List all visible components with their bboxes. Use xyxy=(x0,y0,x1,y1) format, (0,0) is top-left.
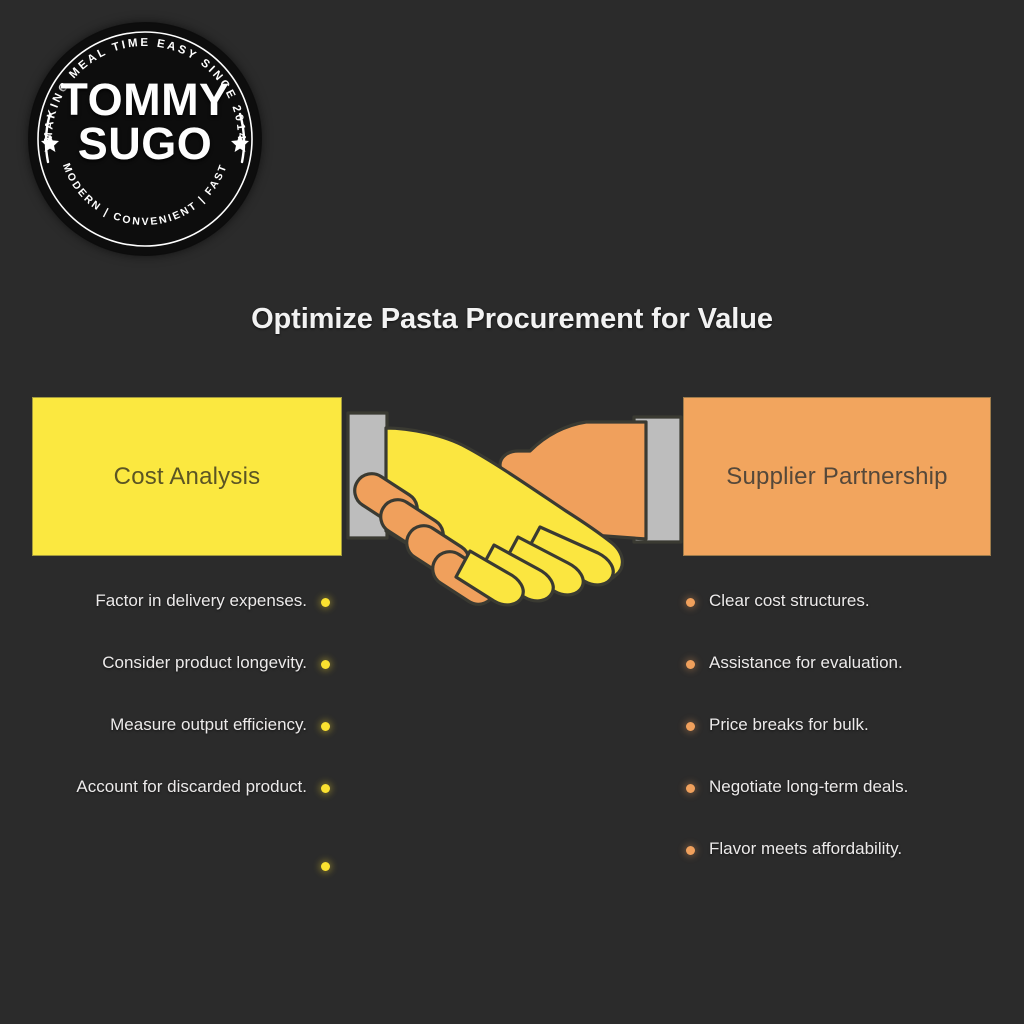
list-item[interactable]: Flavor meets affordability. xyxy=(686,838,996,861)
list-item[interactable]: Measure output efficiency. xyxy=(30,714,330,737)
list-item[interactable]: Account for discarded product. xyxy=(30,776,330,799)
list-item[interactable]: Negotiate long-term deals. xyxy=(686,776,996,799)
bullet-dot-icon xyxy=(321,722,330,731)
logo-wordmark-line2: SUGO xyxy=(28,122,262,166)
list-item-label: Flavor meets affordability. xyxy=(709,838,996,861)
bullet-dot-icon xyxy=(686,846,695,855)
list-item-label: Factor in delivery expenses. xyxy=(30,590,307,613)
list-item[interactable]: Clear cost structures. xyxy=(686,590,996,613)
bullet-dot-icon xyxy=(321,598,330,607)
brand-logo: MAKING MEAL TIME EASY SINCE 2014 MODERN … xyxy=(28,22,262,256)
list-item[interactable] xyxy=(30,854,330,871)
list-item-label: Measure output efficiency. xyxy=(30,714,307,737)
bullet-dot-icon xyxy=(321,862,330,871)
pillar-label-right: Supplier Partnership xyxy=(726,463,947,491)
bullet-dot-icon xyxy=(321,784,330,793)
pillar-label-left: Cost Analysis xyxy=(114,463,261,491)
list-item[interactable]: Price breaks for bulk. xyxy=(686,714,996,737)
list-item-label: Account for discarded product. xyxy=(30,776,307,799)
list-item[interactable]: Assistance for evaluation. xyxy=(686,652,996,675)
bullet-dot-icon xyxy=(686,784,695,793)
bullet-dot-icon xyxy=(686,660,695,669)
list-item[interactable]: Factor in delivery expenses. xyxy=(30,590,330,613)
list-item-label: Clear cost structures. xyxy=(709,590,996,613)
infographic-canvas: MAKING MEAL TIME EASY SINCE 2014 MODERN … xyxy=(0,0,1024,1024)
list-item-label: Consider product longevity. xyxy=(30,652,307,675)
page-title: Optimize Pasta Procurement for Value xyxy=(0,303,1024,336)
logo-wordmark: TOMMY SUGO xyxy=(28,78,262,165)
handshake-icon xyxy=(340,395,692,635)
list-item-label: Price breaks for bulk. xyxy=(709,714,996,737)
list-item-label: Assistance for evaluation. xyxy=(709,652,996,675)
bullet-dot-icon xyxy=(686,598,695,607)
pillar-box-cost-analysis: Cost Analysis xyxy=(32,397,342,556)
list-item[interactable]: Consider product longevity. xyxy=(30,652,330,675)
list-item-label: Negotiate long-term deals. xyxy=(709,776,996,799)
bullet-dot-icon xyxy=(321,660,330,669)
pillar-box-supplier-partnership: Supplier Partnership xyxy=(683,397,991,556)
bullet-dot-icon xyxy=(686,722,695,731)
